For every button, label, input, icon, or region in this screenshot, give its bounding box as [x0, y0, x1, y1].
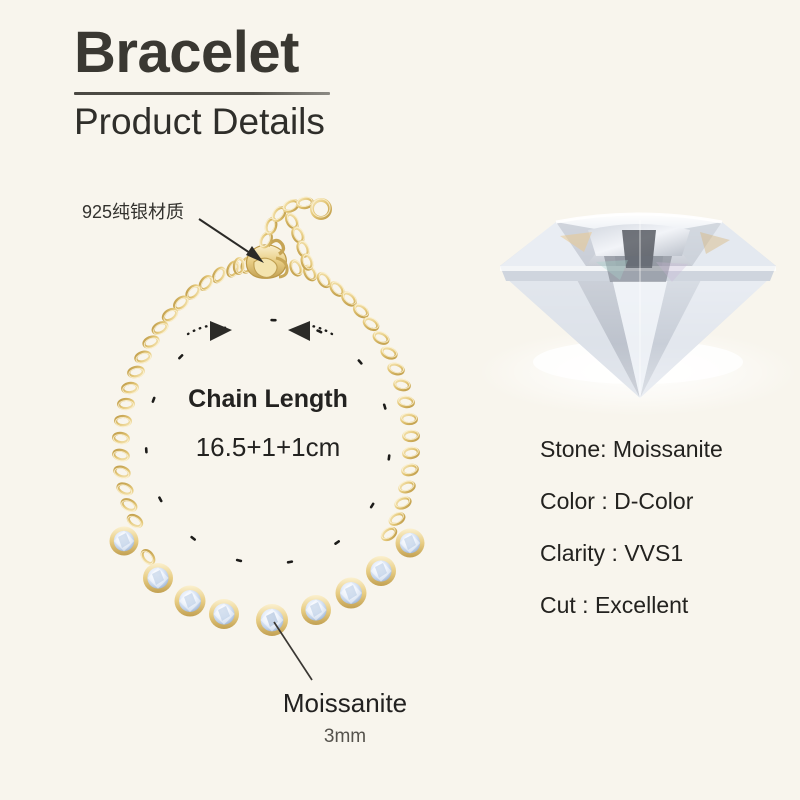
- page-title: Bracelet: [74, 24, 494, 82]
- material-leader-arrow: [199, 219, 264, 263]
- extender-chain: [257, 196, 330, 270]
- stone-size: 3mm: [0, 726, 690, 748]
- stone-caption: Moissanite: [0, 688, 690, 719]
- stone-leader-line: [274, 622, 312, 680]
- chain-length-label: Chain Length: [0, 385, 536, 414]
- spec-row-color: Color : D-Color: [540, 484, 790, 536]
- arrowhead-left: [210, 321, 232, 341]
- arrowhead-right: [288, 321, 310, 341]
- product-detail-infographic: Bracelet Product Details: [0, 0, 800, 800]
- header: Bracelet Product Details: [74, 24, 494, 142]
- lobster-clasp: [234, 240, 287, 278]
- spec-row-cut: Cut : Excellent: [540, 588, 790, 640]
- title-divider: [74, 92, 330, 95]
- spec-row-stone: Stone: Moissanite: [540, 432, 790, 484]
- material-annotation: 925纯银材质: [82, 198, 184, 224]
- page-subtitle: Product Details: [74, 103, 494, 142]
- chain-length-value: 16.5+1+1cm: [0, 432, 536, 463]
- stone-row: [110, 527, 425, 637]
- spec-list: Stone: Moissanite Color : D-Color Clarit…: [540, 432, 790, 640]
- spec-row-clarity: Clarity : VVS1: [540, 536, 790, 588]
